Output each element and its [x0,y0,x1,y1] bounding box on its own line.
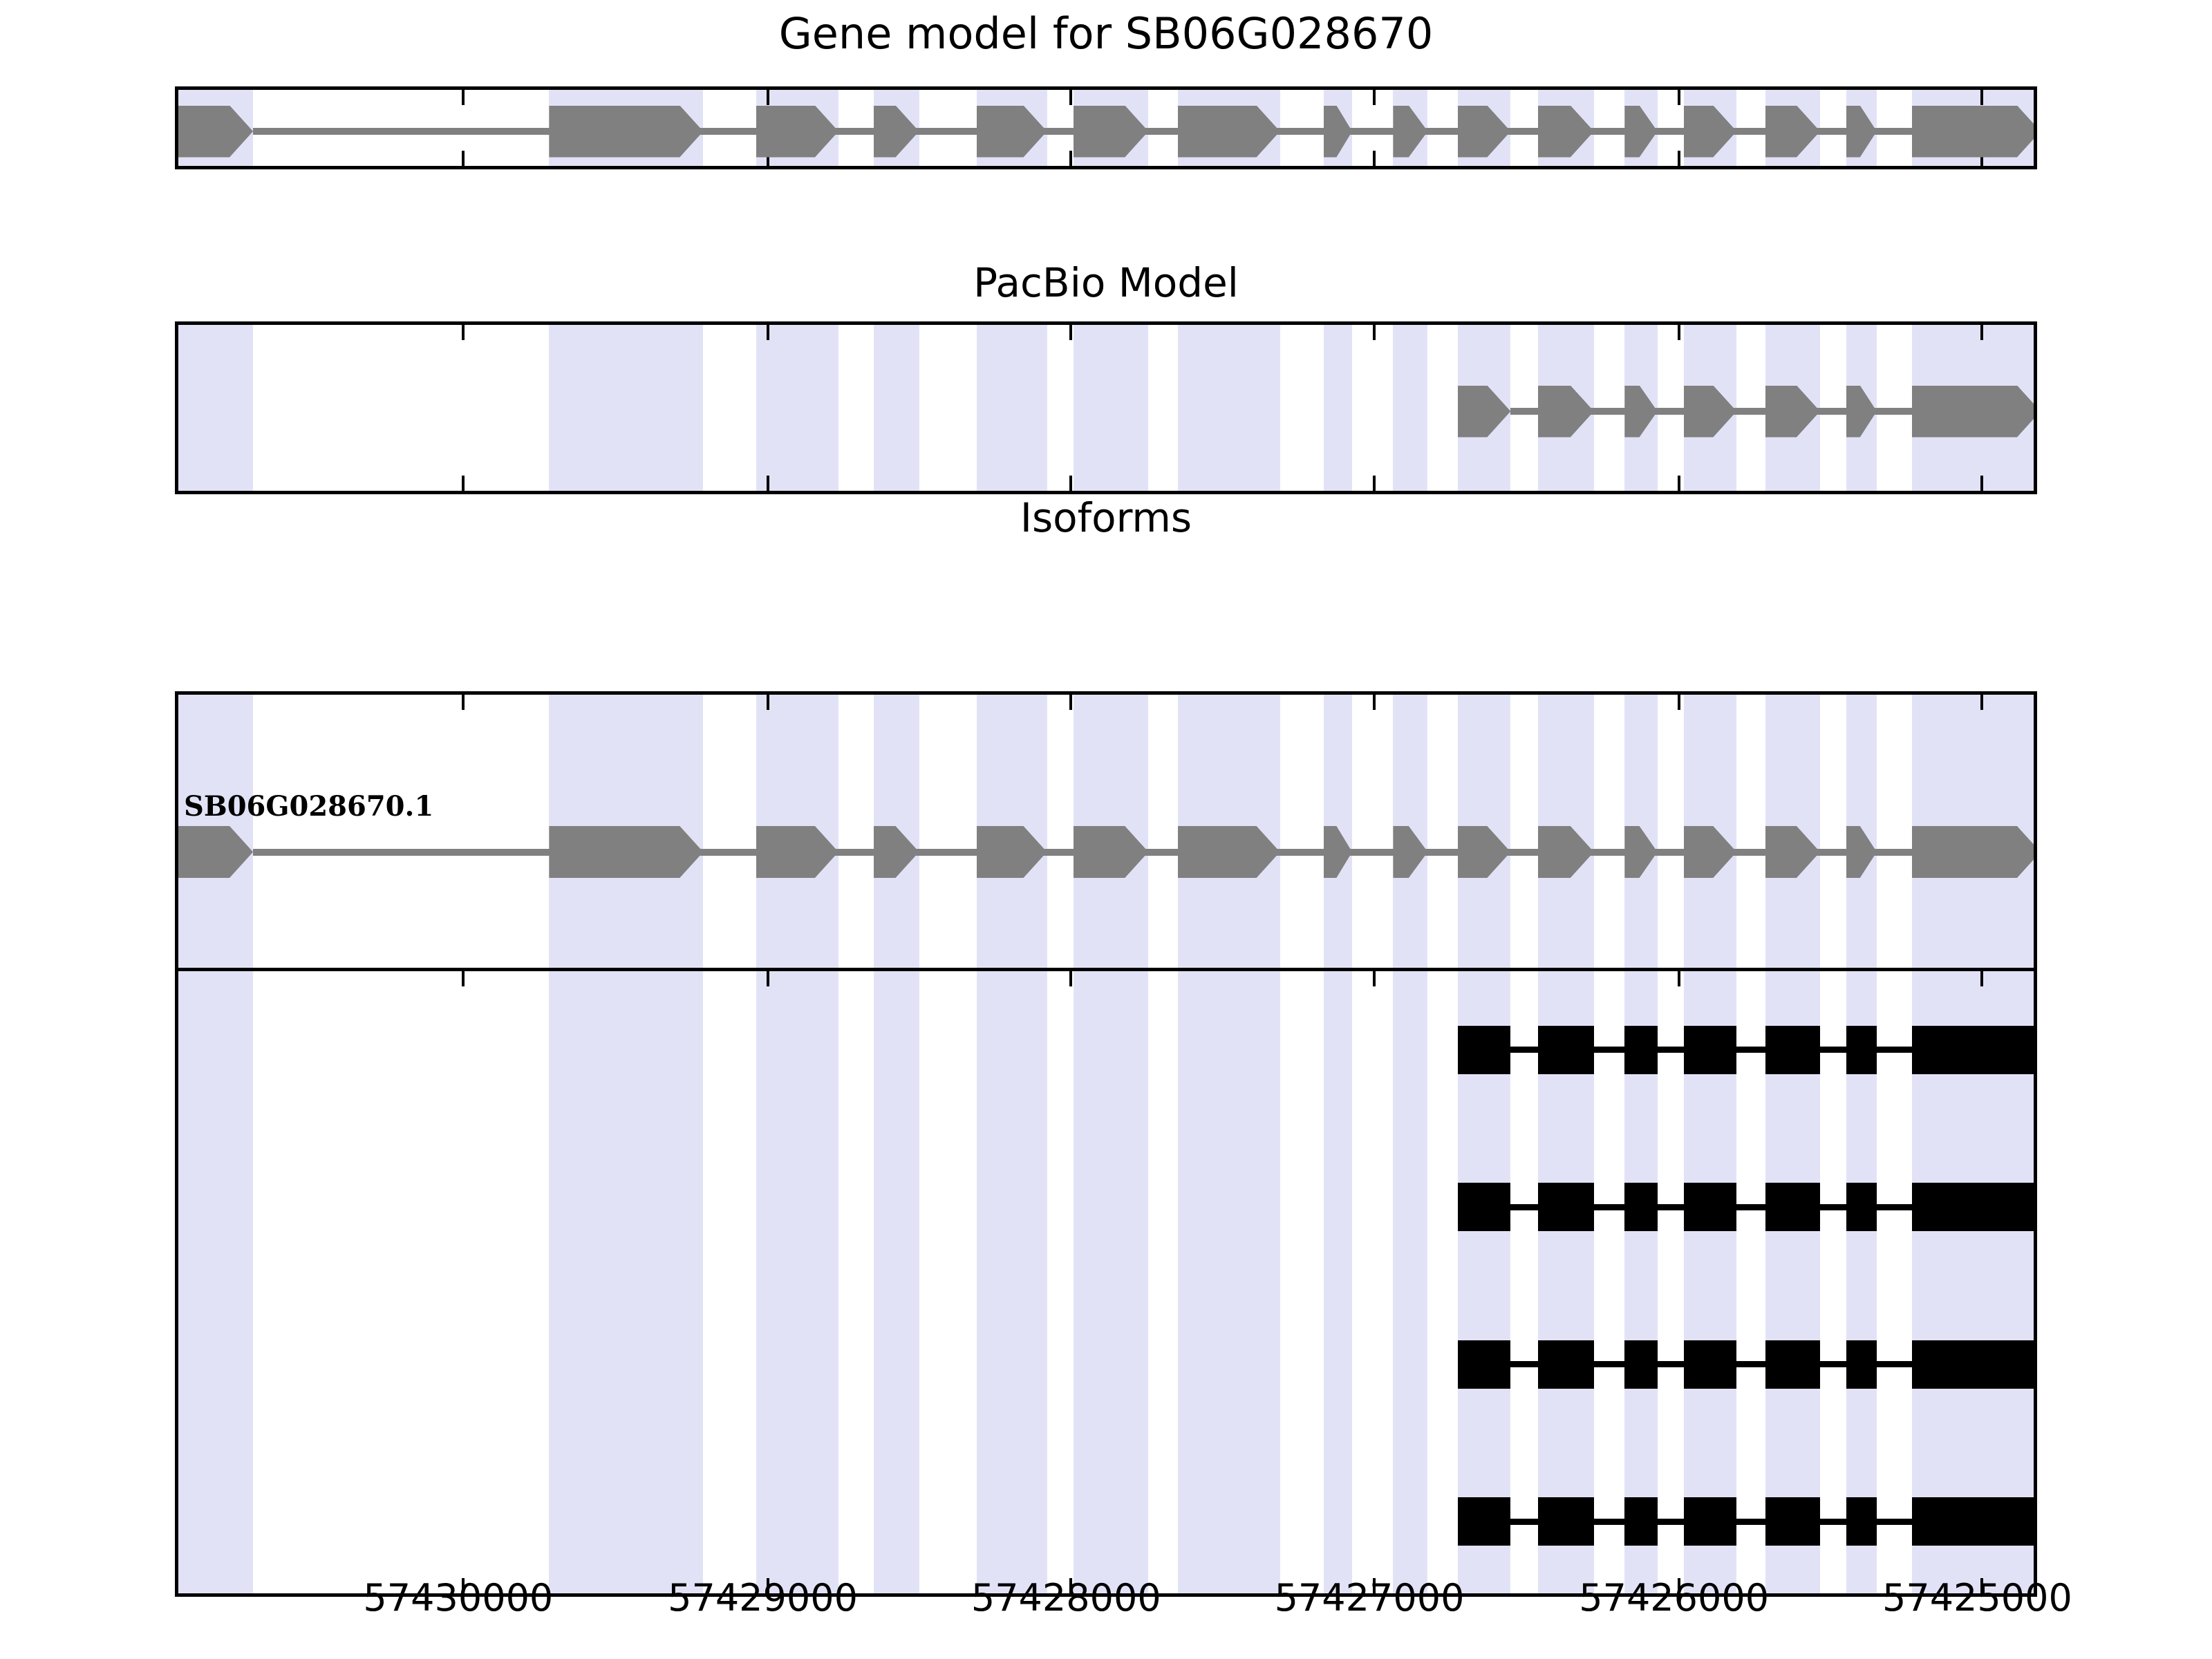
read-block[interactable] [1684,1183,1736,1231]
isoform-label: SB06G028670.1 [184,790,433,823]
read-block[interactable] [1846,1183,1877,1231]
panel-plot-area: SB06G028670.1 [178,695,2034,1002]
read-block[interactable] [1624,1497,1657,1546]
read-block[interactable] [1684,1497,1736,1546]
read-block[interactable] [1624,1183,1657,1231]
read-block[interactable] [1538,1026,1594,1074]
read-block[interactable] [1684,1340,1736,1389]
read-block[interactable] [1765,1497,1820,1546]
exon-block[interactable] [1538,826,1594,878]
exon-block[interactable] [1846,386,1877,438]
exon-block[interactable] [1624,386,1657,438]
exon-block[interactable] [1684,386,1736,438]
read-block[interactable] [1912,1497,2037,1546]
panel-plot-area [178,325,2034,491]
exon-block[interactable] [1912,386,2037,438]
read-block[interactable] [1538,1497,1594,1546]
exon-block[interactable] [756,826,838,878]
read-block[interactable] [1912,1340,2037,1389]
gene-browser-figure: Gene model for SB06G028670PacBio ModelIs… [0,0,2212,1659]
read-row[interactable] [178,971,2034,1129]
read-block[interactable] [1765,1340,1820,1389]
page-title: Gene model for SB06G028670 [0,8,2212,59]
panel-reads[interactable] [175,968,2037,1597]
axis-tick-label: 57429000 [668,1576,858,1620]
read-block[interactable] [1538,1183,1594,1231]
read-block[interactable] [1458,1497,1510,1546]
exon-block[interactable] [1178,106,1280,158]
exon-block[interactable] [549,106,703,158]
read-block[interactable] [1846,1497,1877,1546]
axis-tick-label: 57426000 [1579,1576,1769,1620]
exon-block[interactable] [178,826,253,878]
exon-block[interactable] [1458,386,1510,438]
read-block[interactable] [1765,1183,1820,1231]
exon-block[interactable] [1765,386,1820,438]
exon-block[interactable] [1324,106,1352,158]
exon-block[interactable] [1912,106,2037,158]
transcript-row[interactable]: SB06G028670.1 [178,695,2034,1006]
read-block[interactable] [1765,1026,1820,1074]
read-block[interactable] [1458,1183,1510,1231]
panel-plot-area [178,971,2034,1593]
exon-block[interactable] [1074,106,1149,158]
exon-block[interactable] [178,106,253,158]
exon-block[interactable] [874,826,919,878]
axis-tick-label: 57425000 [1882,1576,2072,1620]
exon-block[interactable] [874,106,919,158]
exon-block[interactable] [1324,826,1352,878]
panel-title-pacbio-model: PacBio Model [0,259,2212,306]
read-block[interactable] [1624,1340,1657,1389]
read-block[interactable] [1846,1340,1877,1389]
exon-block[interactable] [1765,826,1820,878]
exon-block[interactable] [1393,826,1427,878]
exon-block[interactable] [1393,106,1427,158]
panel-isoforms[interactable]: SB06G028670.1 [175,691,2037,1006]
exon-block[interactable] [1846,826,1877,878]
read-row[interactable] [178,1443,2034,1597]
panel-gene-model[interactable] [175,86,2037,169]
exon-block[interactable] [1684,106,1736,158]
read-row[interactable] [178,1286,2034,1443]
exon-block[interactable] [1458,106,1510,158]
axis-tick-label: 57430000 [363,1576,553,1620]
read-block[interactable] [1624,1026,1657,1074]
read-block[interactable] [1538,1340,1594,1389]
transcript-row[interactable] [178,325,2034,494]
exon-block[interactable] [977,826,1047,878]
panel-plot-area [178,90,2034,166]
exon-block[interactable] [1538,106,1594,158]
read-row[interactable] [178,1129,2034,1286]
exon-block[interactable] [756,106,838,158]
read-block[interactable] [1458,1026,1510,1074]
read-block[interactable] [1912,1026,2037,1074]
exon-block[interactable] [549,826,703,878]
exon-block[interactable] [1846,106,1877,158]
exon-block[interactable] [1912,826,2037,878]
exon-block[interactable] [1765,106,1820,158]
axis-tick-label: 57428000 [971,1576,1161,1620]
panel-title-isoforms: Isoforms [0,494,2212,541]
read-block[interactable] [1458,1340,1510,1389]
transcript-row[interactable] [178,90,2034,169]
exon-block[interactable] [1538,386,1594,438]
panel-pacbio-model[interactable] [175,321,2037,494]
exon-block[interactable] [1074,826,1149,878]
read-block[interactable] [1912,1183,2037,1231]
exon-block[interactable] [1624,826,1657,878]
exon-block[interactable] [1684,826,1736,878]
exon-block[interactable] [1624,106,1657,158]
axis-tick-label: 57427000 [1275,1576,1465,1620]
read-block[interactable] [1684,1026,1736,1074]
read-block[interactable] [1846,1026,1877,1074]
exon-block[interactable] [1178,826,1280,878]
exon-block[interactable] [1458,826,1510,878]
exon-block[interactable] [977,106,1047,158]
